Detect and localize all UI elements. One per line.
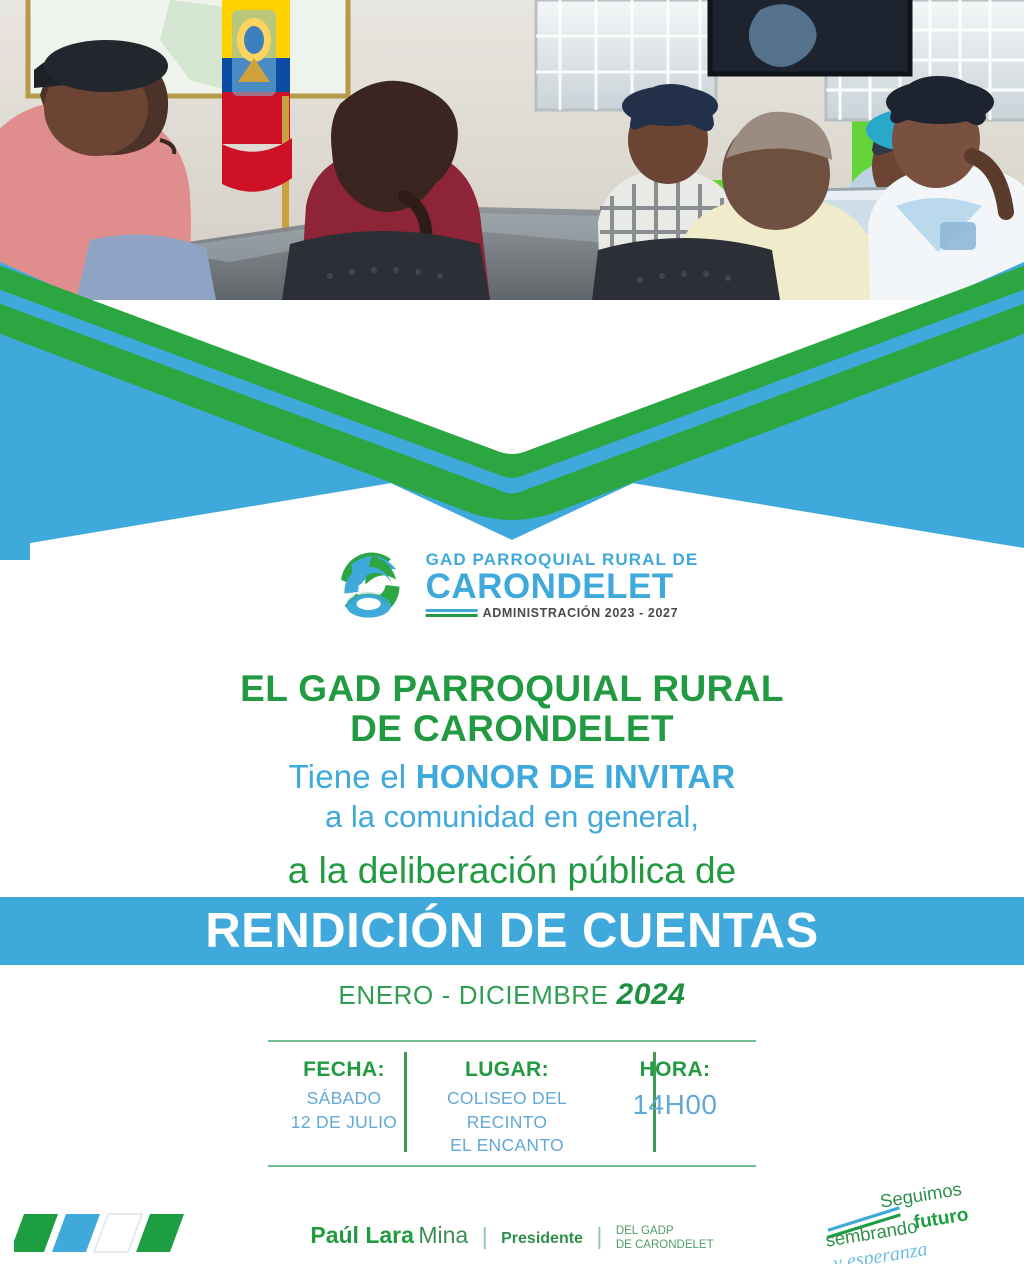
logo-line-2: CARONDELET xyxy=(426,569,699,604)
headline-line-2: DE CARONDELET xyxy=(0,708,1024,750)
organization-logo: GAD PARROQUIAL RURAL DE CARONDELET ADMIN… xyxy=(326,542,699,628)
logo-line-3: ADMINISTRACIÓN 2023 - 2027 xyxy=(483,607,679,620)
subject-period: ENERO - DICIEMBRE 2024 xyxy=(0,978,1024,1012)
detail-fecha-value-line2: 12 DE JULIO xyxy=(274,1111,414,1135)
poster-root: GAD PARROQUIAL RURAL DE CARONDELET ADMIN… xyxy=(0,0,1024,1280)
subject-intro: a la deliberación pública de xyxy=(0,850,1024,892)
president-name-bold: Paúl Lara xyxy=(310,1222,414,1248)
invitation-lead: Tiene el xyxy=(289,758,416,795)
logo-line-1: GAD PARROQUIAL RURAL DE xyxy=(426,551,699,568)
detail-fecha: FECHA: SÁBADO 12 DE JULIO xyxy=(268,1058,420,1134)
detail-fecha-value: SÁBADO 12 DE JULIO xyxy=(274,1087,414,1134)
period-year: 2024 xyxy=(616,978,685,1011)
detail-hora-value: 14H00 xyxy=(600,1086,750,1124)
subject-title-ribbon: RENDICIÓN DE CUENTAS xyxy=(0,897,1024,965)
detail-hora-label: HORA: xyxy=(600,1058,750,1082)
details-rule-top xyxy=(268,1040,756,1042)
president-org-line2: DE CARONDELET xyxy=(616,1239,714,1251)
signature-divider-1: | xyxy=(482,1223,488,1249)
logo-accent-bars-icon xyxy=(426,609,478,617)
invitation-line-2: a la comunidad en general, xyxy=(0,799,1024,835)
invitation-block: Tiene el HONOR DE INVITAR a la comunidad… xyxy=(0,758,1024,835)
details-row: FECHA: SÁBADO 12 DE JULIO LUGAR: COLISEO… xyxy=(268,1058,756,1158)
detail-lugar-value: COLISEO DEL RECINTO EL ENCANTO xyxy=(426,1087,588,1158)
president-role: Presidente xyxy=(501,1230,583,1247)
details-rule-bottom xyxy=(268,1165,756,1167)
detail-lugar-value-line2: EL ENCANTO xyxy=(426,1134,588,1158)
president-org-line1: DEL GADP xyxy=(616,1225,674,1237)
carondelet-emblem-icon xyxy=(326,542,412,628)
svg-text:futuro: futuro xyxy=(912,1204,969,1233)
slogan-graphic: Seguimos sembrando futuro y esperanza xyxy=(806,1178,1006,1264)
hero-section xyxy=(0,0,1024,560)
detail-lugar-label: LUGAR: xyxy=(426,1058,588,1082)
detail-fecha-value-line1: SÁBADO xyxy=(274,1087,414,1111)
detail-lugar: LUGAR: COLISEO DEL RECINTO EL ENCANTO xyxy=(420,1058,594,1158)
detail-lugar-value-line1: COLISEO DEL RECINTO xyxy=(426,1087,588,1134)
president-org: DEL GADP DE CARONDELET xyxy=(616,1225,714,1253)
subject-title: RENDICIÓN DE CUENTAS xyxy=(0,897,1024,965)
headline-line-1: EL GAD PARROQUIAL RURAL xyxy=(0,668,1024,710)
chevron-band-graphic xyxy=(0,0,1024,560)
period-label: ENERO - DICIEMBRE xyxy=(338,980,608,1010)
detail-fecha-label: FECHA: xyxy=(274,1058,414,1082)
signature-divider-2: | xyxy=(596,1223,602,1249)
invitation-strong: HONOR DE INVITAR xyxy=(416,758,736,795)
detail-hora: HORA: 14H00 xyxy=(594,1058,756,1124)
invitation-line-1: Tiene el HONOR DE INVITAR xyxy=(0,758,1024,796)
president-name-rest: Mina xyxy=(418,1222,468,1248)
